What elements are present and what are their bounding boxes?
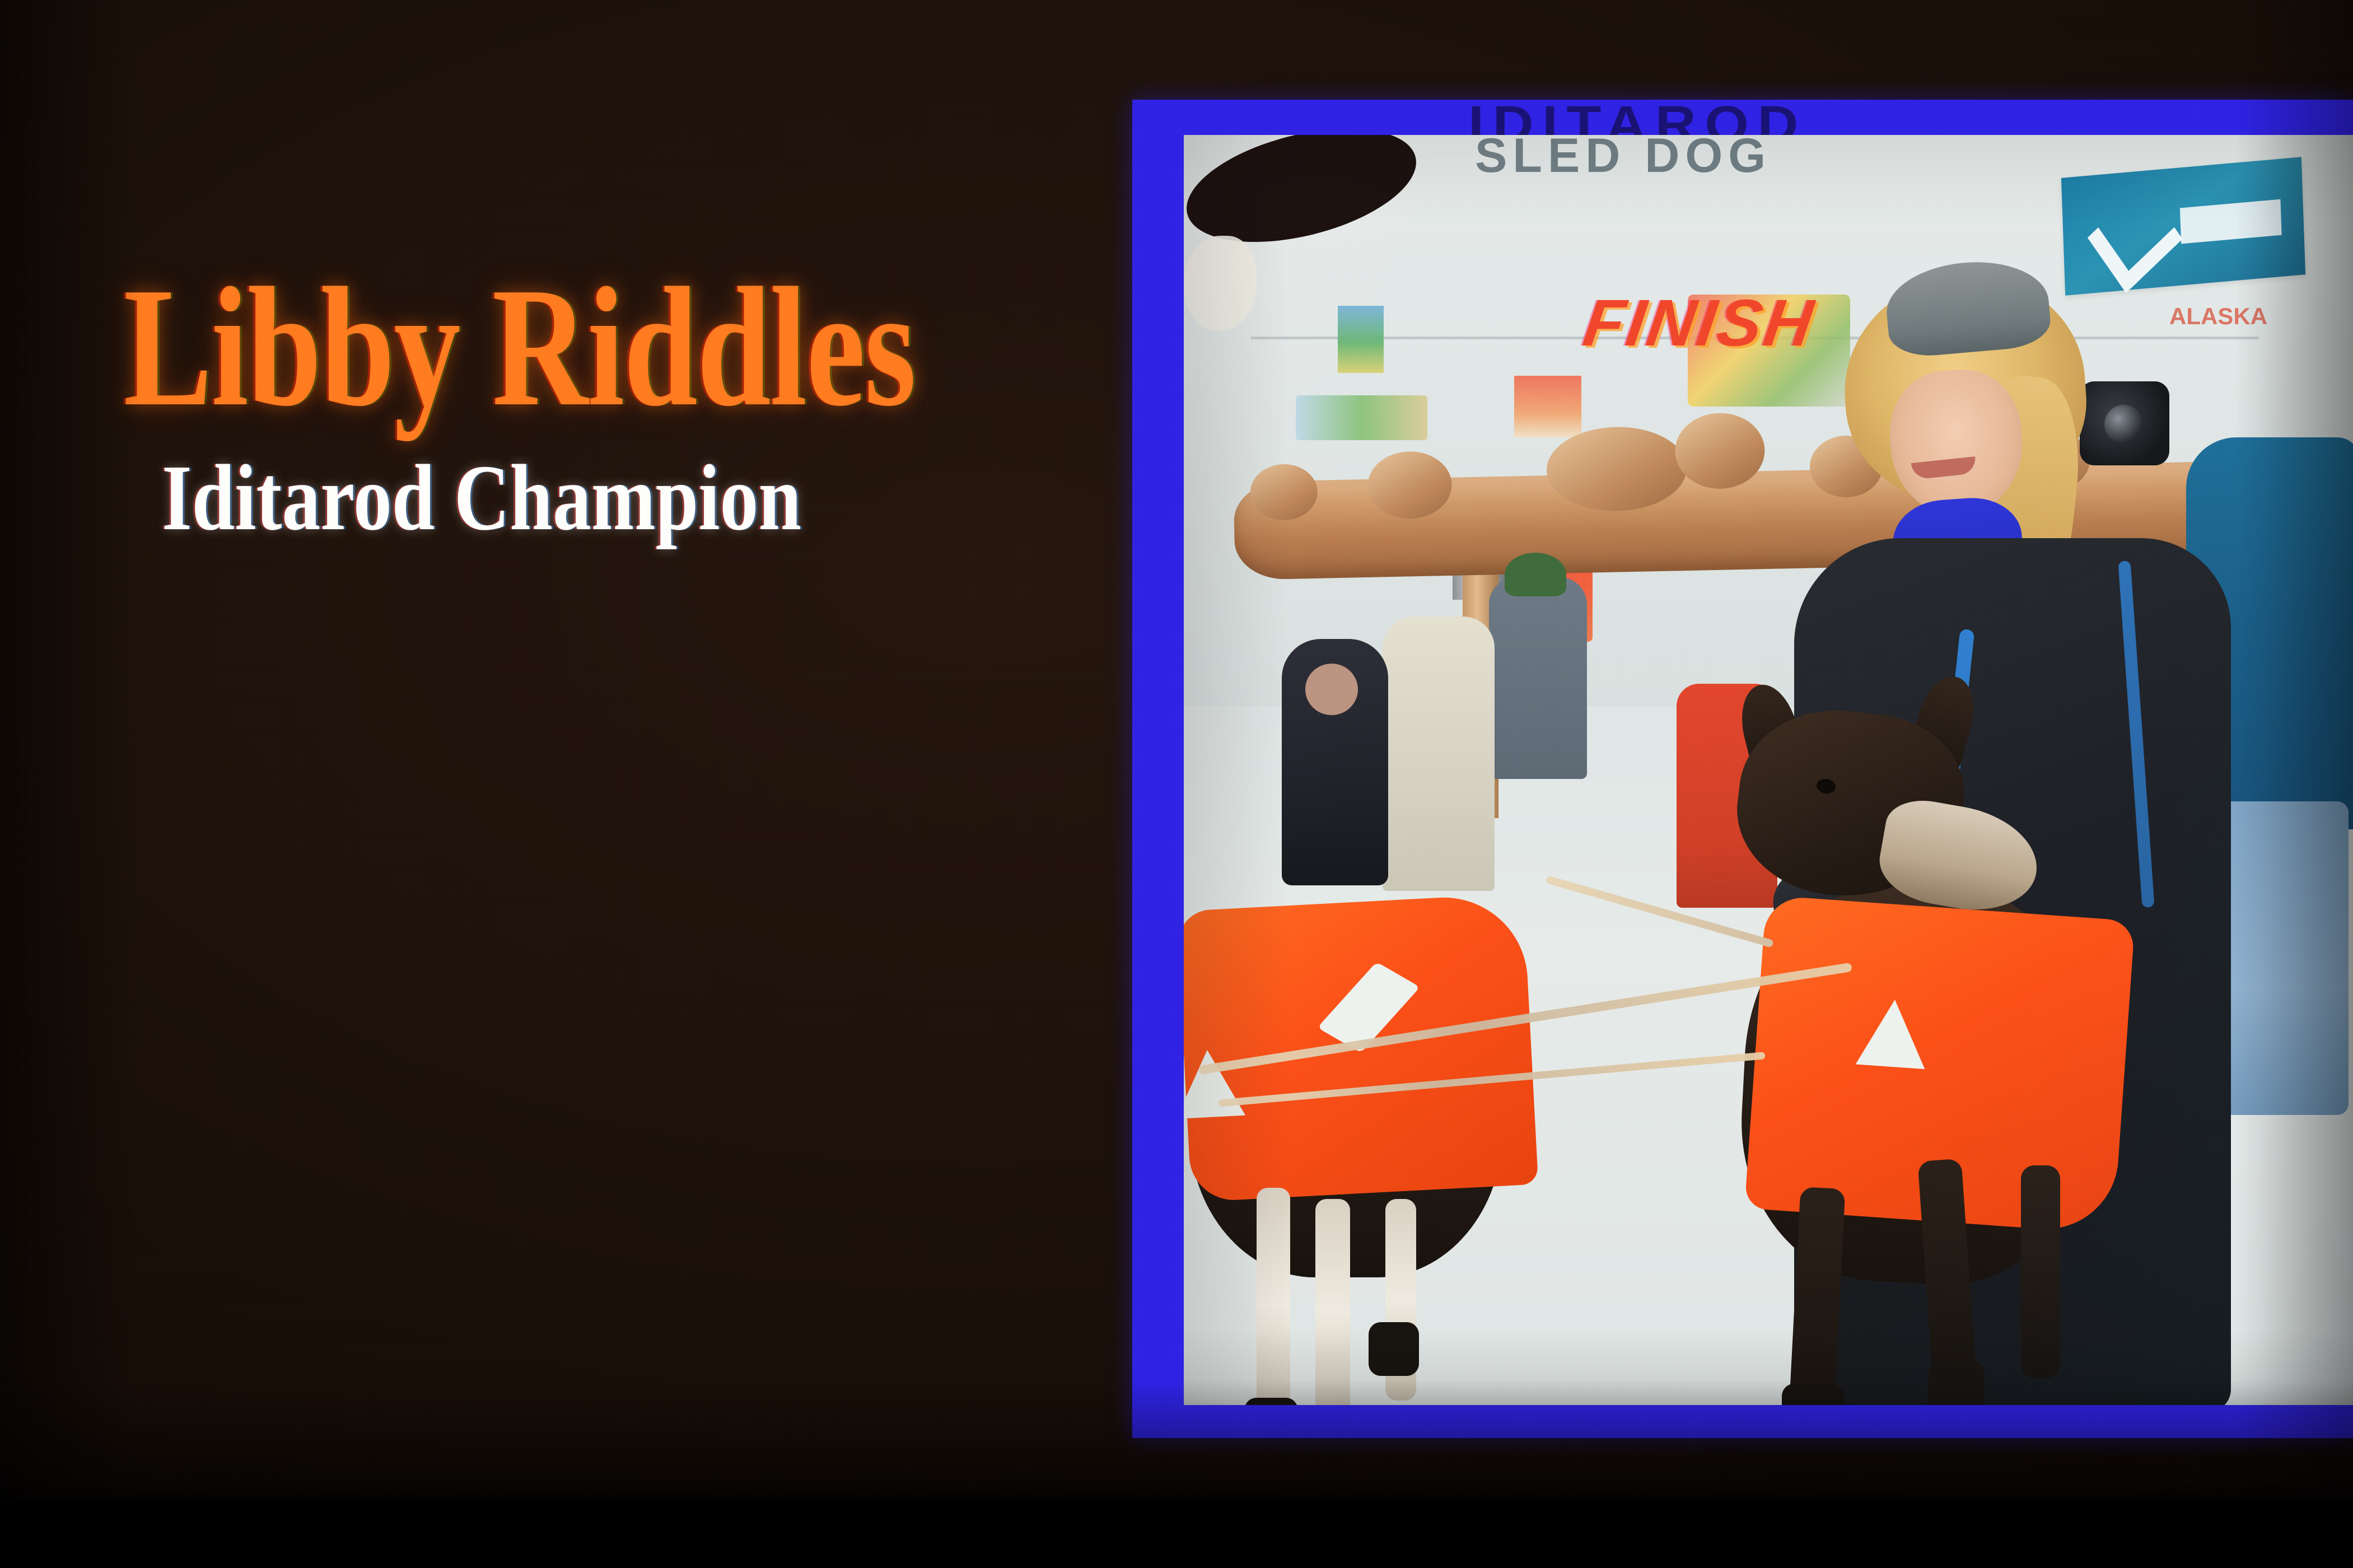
dog-bootie: [1369, 1322, 1419, 1376]
dog-bootie: [1244, 1398, 1298, 1405]
sled-dog-rear-leg: [1257, 1188, 1290, 1405]
sled-dog-lead-leg: [2021, 1165, 2060, 1378]
spectator-dark-hooded: [1282, 639, 1388, 885]
sled-dog-rear-leg: [1315, 1199, 1350, 1405]
finish-banner-text: FINISH: [1579, 285, 1819, 361]
spectator-light-coat: [1383, 617, 1495, 891]
sponsor-logo-wordmark: [2180, 199, 2282, 244]
page-title: Libby Riddles: [123, 263, 839, 431]
sponsor-logo-small-red-text: ALASKA: [2169, 303, 2267, 330]
arch-knob: [1250, 464, 1318, 521]
arch-knob: [1367, 451, 1452, 520]
projected-slide-photograph: Libby Riddles Iditarod Champion IDITAROD…: [0, 0, 2353, 1568]
photo-frame: IDITAROD SLED DOG ALASKA NRC FINISH: [1132, 100, 2353, 1438]
sponsor-logo-3: [1514, 376, 1581, 437]
sponsor-logo-1: [1338, 306, 1384, 373]
sponsor-logo-checkmark-banner: [2061, 157, 2305, 295]
arch-knob: [1674, 412, 1766, 489]
dog-bootie: [1929, 1361, 1985, 1405]
dog-bootie: [1782, 1384, 1843, 1405]
coat-triangle-marking: [1184, 1048, 1245, 1119]
sled-dog-banner-text: SLED DOG: [1475, 135, 1771, 184]
spectator-green-hat: [1489, 577, 1587, 779]
slide-text-block: Libby Riddles Iditarod Champion: [22, 263, 941, 545]
page-subtitle: Iditarod Champion: [105, 451, 858, 545]
camera-lens: [2080, 381, 2169, 465]
sponsor-logo-2: [1296, 395, 1427, 440]
coat-triangle-marking: [1856, 997, 1930, 1069]
finish-line-photo: SLED DOG ALASKA NRC FINISH: [1184, 135, 2353, 1405]
sled-dog-lead-white-patch: [1184, 236, 1257, 331]
